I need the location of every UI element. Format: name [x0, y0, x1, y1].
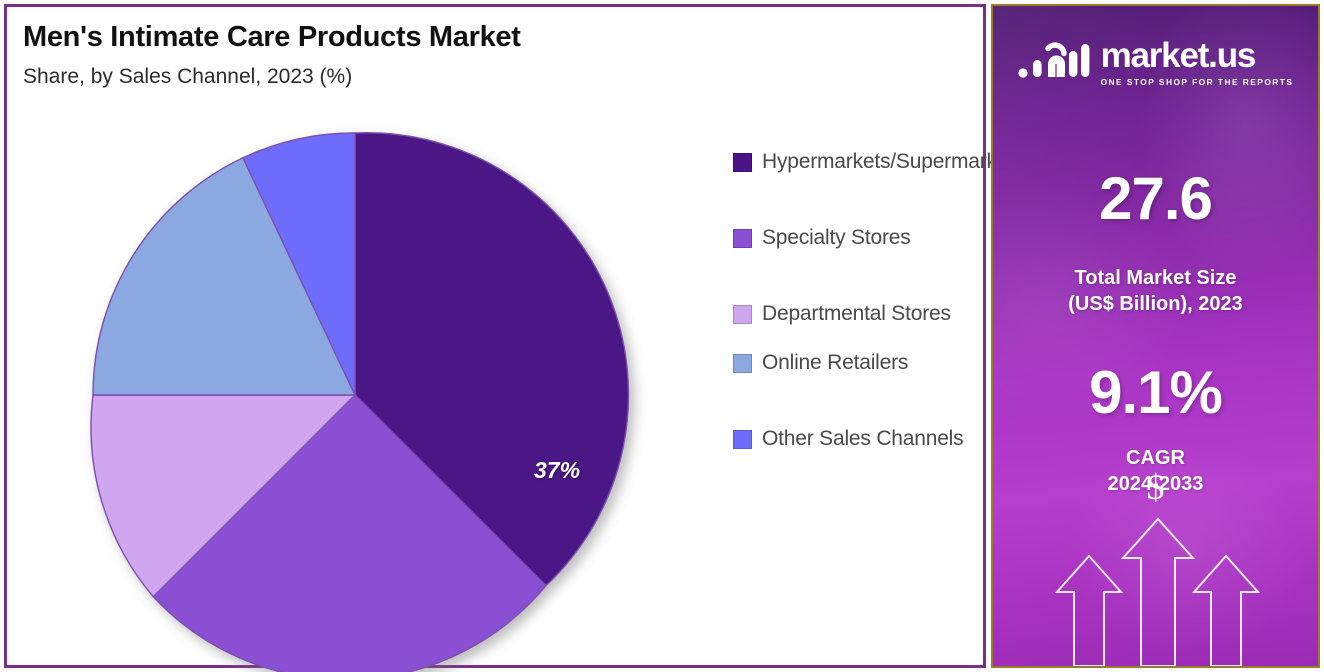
pie-slice-label-hypermarkets: 37%	[534, 457, 580, 484]
pie-slices	[91, 133, 628, 672]
dollar-sign-icon: $	[993, 466, 1318, 508]
pie-chart-svg	[77, 112, 647, 672]
chart-heading-block: Men's Intimate Care Products Market Shar…	[23, 21, 521, 89]
page-title: Men's Intimate Care Products Market	[23, 21, 521, 54]
legend-swatch-icon	[733, 153, 752, 172]
growth-arrows-graphic: $	[993, 516, 1318, 666]
legend-swatch-icon	[733, 430, 752, 449]
pie-chart: 37%	[77, 112, 647, 672]
chart-subtitle: Share, by Sales Channel, 2023 (%)	[23, 65, 521, 89]
legend-swatch-icon	[733, 354, 752, 373]
legend-swatch-icon	[733, 305, 752, 324]
legend-item-specialty-stores[interactable]: Specialty Stores	[733, 223, 983, 253]
market-size-value: 27.6	[993, 164, 1318, 233]
legend-label: Specialty Stores	[762, 223, 911, 253]
market-us-logo-icon	[1018, 40, 1090, 85]
infographic-root: Men's Intimate Care Products Market Shar…	[0, 0, 1324, 672]
legend-label: Other Sales Channels	[762, 424, 963, 454]
arrows-svg	[993, 516, 1320, 666]
legend-swatch-icon	[733, 229, 752, 248]
logo-tagline: ONE STOP SHOP FOR THE REPORTS	[1101, 77, 1294, 87]
logo-mark-svg	[1018, 40, 1090, 80]
logo-text-block: market.us ONE STOP SHOP FOR THE REPORTS	[1101, 38, 1294, 87]
market-size-caption: Total Market Size (US$ Billion), 2023	[993, 266, 1318, 317]
logo-wordmark: market.us	[1101, 38, 1294, 73]
chart-panel: Men's Intimate Care Products Market Shar…	[4, 4, 986, 668]
legend-item-online-retailers[interactable]: Online Retailers	[733, 348, 983, 378]
legend-label: Hypermarkets/Supermarkets	[762, 147, 1024, 177]
brand-logo[interactable]: market.us ONE STOP SHOP FOR THE REPORTS	[993, 38, 1318, 87]
legend-item-departmental-stores[interactable]: Departmental Stores	[733, 299, 983, 329]
legend-label: Online Retailers	[762, 348, 908, 378]
legend-item-other-sales-channels[interactable]: Other Sales Channels	[733, 424, 983, 454]
chart-legend: Hypermarkets/Supermarkets Specialty Stor…	[733, 147, 983, 474]
legend-item-hypermarkets-supermarkets[interactable]: Hypermarkets/Supermarkets	[733, 147, 983, 177]
legend-label: Departmental Stores	[762, 299, 951, 329]
cagr-value: 9.1%	[993, 358, 1318, 427]
info-panel: market.us ONE STOP SHOP FOR THE REPORTS …	[991, 4, 1320, 668]
